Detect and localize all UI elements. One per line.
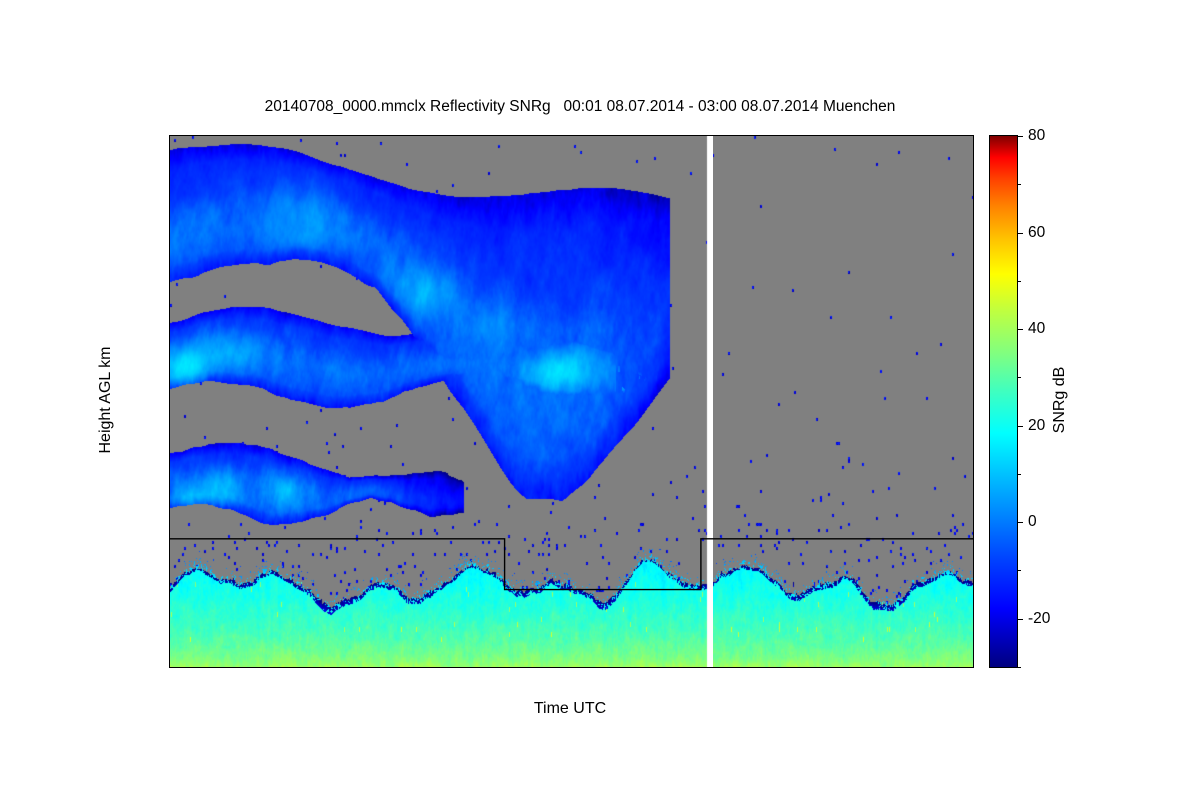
x-tick-minor — [371, 135, 372, 136]
x-tick-minor — [638, 135, 639, 136]
x-tick-minor — [215, 135, 216, 136]
x-tick-minor — [348, 135, 349, 136]
colorbar[interactable]: 806040200-20 — [989, 135, 1018, 668]
x-tick-minor — [795, 135, 796, 136]
x-tick-0300 — [973, 135, 974, 136]
colorbar-tick-label-60: 60 — [1028, 224, 1045, 242]
colorbar-tick-label-20: 20 — [1028, 417, 1045, 435]
colorbar-tick-minor — [1017, 281, 1021, 282]
x-tick-minor — [282, 135, 283, 136]
x-tick-0130 — [572, 135, 573, 136]
plot-area[interactable]: 246810 00:3001:0001:3002:0002:3003:00 — [169, 135, 974, 668]
colorbar-tick-label-40: 40 — [1028, 320, 1045, 338]
colorbar-tick-label-80: 80 — [1028, 127, 1045, 145]
x-tick-minor — [928, 135, 929, 136]
x-tick-minor — [906, 135, 907, 136]
x-tick-0030 — [304, 135, 305, 136]
colorbar-tick-40 — [1017, 329, 1023, 330]
x-tick-minor — [393, 135, 394, 136]
x-tick-minor — [772, 135, 773, 136]
x-axis-title: Time UTC — [534, 700, 606, 718]
x-tick-minor — [683, 135, 684, 136]
x-tick-minor — [237, 135, 238, 136]
colorbar-title: SNRg dB — [1051, 367, 1069, 434]
x-tick-minor — [861, 135, 862, 136]
x-tick-minor — [594, 135, 595, 136]
radar-reflectivity-figure: 20140708_0000.mmclx Reflectivity SNRg 00… — [0, 0, 1200, 800]
colorbar-tick-minor — [1017, 667, 1021, 668]
colorbar-tick-20 — [1017, 426, 1023, 427]
colorbar-tick--20 — [1017, 619, 1023, 620]
x-tick-0200 — [705, 135, 706, 136]
x-tick-minor — [750, 135, 751, 136]
x-tick-minor — [326, 135, 327, 136]
x-tick-minor — [415, 135, 416, 136]
x-tick-minor — [527, 135, 528, 136]
x-tick-minor — [192, 135, 193, 136]
colorbar-tick-minor — [1017, 184, 1021, 185]
colorbar-tick-label-0: 0 — [1028, 513, 1037, 531]
colorbar-tick-label--20: -20 — [1028, 610, 1050, 628]
x-tick-minor — [817, 135, 818, 136]
x-tick-minor — [482, 135, 483, 136]
colorbar-tick-60 — [1017, 233, 1023, 234]
x-tick-0230 — [839, 135, 840, 136]
x-tick-minor — [728, 135, 729, 136]
x-tick-minor — [661, 135, 662, 136]
colorbar-tick-minor — [1017, 377, 1021, 378]
x-tick-minor — [616, 135, 617, 136]
colorbar-ticks: 806040200-20 — [990, 136, 1017, 667]
x-tick-minor — [460, 135, 461, 136]
page-title: 20140708_0000.mmclx Reflectivity SNRg 00… — [0, 98, 1160, 116]
colorbar-tick-minor — [1017, 474, 1021, 475]
x-tick-minor — [951, 135, 952, 136]
x-tick-minor — [549, 135, 550, 136]
x-tick-minor — [505, 135, 506, 136]
colorbar-tick-minor — [1017, 570, 1021, 571]
x-tick-0100 — [438, 135, 439, 136]
x-tick-minor — [259, 135, 260, 136]
colorbar-tick-80 — [1017, 136, 1023, 137]
x-axis-ticks: 00:3001:0001:3002:0002:3003:00 — [170, 136, 973, 667]
y-axis-title: Height AGL km — [97, 346, 115, 453]
colorbar-tick-0 — [1017, 522, 1023, 523]
x-tick-minor — [884, 135, 885, 136]
